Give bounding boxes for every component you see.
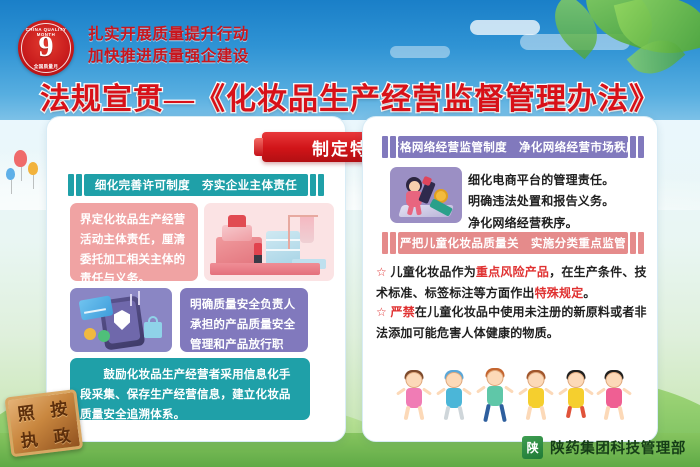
footer: 陕 陕药集团科技管理部 [522, 436, 686, 459]
jumping-children-illustration [396, 352, 646, 430]
star-item-key-risk: ☆ 儿童化妆品作为重点风险产品，在生产条件、技术标准、标签标注等方面作出特殊规定… [376, 262, 648, 305]
body-text: 在儿童化妆品中使用未注册的新原料或者非法添加可能危害人体健康的物质。 [376, 305, 647, 340]
left-section-bar-label: 细化完善许可制度 夯实企业主体责任 [95, 177, 297, 193]
slogan-line-2: 加快推进质量强企建设 [88, 46, 249, 68]
star-item-key-risk-text: 儿童化妆品作为重点风险产品，在生产条件、技术标准、标签标注等方面作出特殊规定。 [376, 265, 647, 300]
child-figure [564, 372, 588, 430]
seal-char: 照 [16, 398, 36, 425]
network-points-list: 细化电商平台的管理责任。 明确违法处置和报告义务。 净化网络经营秩序。 [468, 170, 648, 234]
child-figure [482, 370, 508, 430]
bar-tick [390, 136, 396, 158]
shaanxi-pharma-logo-icon: 陕 [522, 436, 543, 459]
bar-tick [638, 232, 644, 254]
traditional-seal-stamp: 照 按 执 政 [0, 382, 92, 466]
bar-tick [68, 174, 74, 196]
seal-char: 政 [52, 421, 72, 448]
network-point: 细化电商平台的管理责任。 [468, 170, 648, 191]
bar-tick [310, 174, 316, 196]
balloon-decoration [14, 150, 27, 167]
star-icon: ☆ [376, 305, 387, 319]
body-text: 儿童化妆品作为 [391, 265, 476, 279]
cloud-decoration [390, 46, 450, 58]
bar-tick [630, 136, 636, 158]
highlighted-text: 严禁 [391, 305, 415, 319]
body-text: 。 [583, 286, 595, 300]
logo-arc-bottom-text: 全国质量月 [18, 64, 74, 70]
right-section-bar-2: 严把儿童化妆品质量关 实施分类重点监管 [398, 232, 628, 254]
child-figure [602, 372, 626, 430]
bar-tick [630, 232, 636, 254]
card-subject-responsibility: 界定化妆品生产经营活动主体责任，厘清委托加工相关主体的责任与义务。 [70, 203, 198, 281]
network-point: 净化网络经营秩序。 [468, 213, 648, 234]
balloon-decoration [28, 162, 38, 175]
bar-tick [382, 232, 388, 254]
bar-tick [390, 232, 396, 254]
highlighted-text: 重点风险产品 [476, 265, 549, 279]
bar-tick [382, 136, 388, 158]
balloon-decoration [6, 168, 15, 180]
child-figure [524, 372, 548, 430]
cosmetics-display-illustration [204, 203, 334, 281]
bar-tick [318, 174, 324, 196]
right-section-bar-1: 严格网络经营监管制度 净化网络经营市场秩序 [398, 136, 628, 158]
star-item-prohibition-text: 严禁在儿童化妆品中使用未注册的新原料或者非法添加可能危害人体健康的物质。 [376, 305, 647, 340]
livestream-ecommerce-illustration [390, 167, 462, 223]
china-quality-month-logo-icon: CHINA QUALITY MONTH 9 全国质量月 [18, 20, 74, 76]
poster-root: CHINA QUALITY MONTH 9 全国质量月 扎实开展质量提升行动 加… [0, 0, 700, 467]
left-section-bar: 细化完善许可制度 夯实企业主体责任 [84, 174, 308, 196]
card-quality-officer: 明确质量安全负责人承担的产品质量安全管理和产品放行职责。 [180, 288, 308, 352]
seal-char: 按 [49, 394, 69, 421]
bar-tick [76, 174, 82, 196]
logo-numeral: 9 [39, 32, 54, 62]
highlighted-text: 特殊规定 [535, 286, 584, 300]
child-figure [402, 372, 426, 430]
bar-tick [638, 136, 644, 158]
right-section-bar-2-label: 严把儿童化妆品质量关 实施分类重点监管 [400, 235, 626, 251]
page-title: 法规宣贯—《化妆品生产经营监督管理办法》 [0, 74, 700, 118]
child-figure [442, 372, 466, 430]
seal-characters: 照 按 执 政 [8, 392, 80, 454]
star-item-prohibition: ☆ 严禁在儿童化妆品中使用未注册的新原料或者非法添加可能危害人体健康的物质。 [376, 302, 648, 345]
slogan-line-1: 扎实开展质量提升行动 [88, 24, 249, 46]
right-section-bar-1-label: 严格网络经营监管制度 净化网络经营市场秩序 [388, 139, 638, 155]
star-icon: ☆ [376, 265, 387, 279]
mobile-payment-security-illustration [70, 288, 172, 352]
card-traceability: 鼓励化妆品生产经营者采用信息化手段采集、保存生产经营信息，建立化妆品质量安全追溯… [70, 358, 310, 420]
network-point: 明确违法处置和报告义务。 [468, 191, 648, 212]
seal-body: 照 按 执 政 [4, 389, 83, 457]
seal-char: 执 [19, 425, 39, 452]
slogan-block: 扎实开展质量提升行动 加快推进质量强企建设 [88, 24, 249, 68]
footer-organization-name: 陕药集团科技管理部 [550, 437, 686, 458]
cloud-decoration [470, 20, 540, 35]
